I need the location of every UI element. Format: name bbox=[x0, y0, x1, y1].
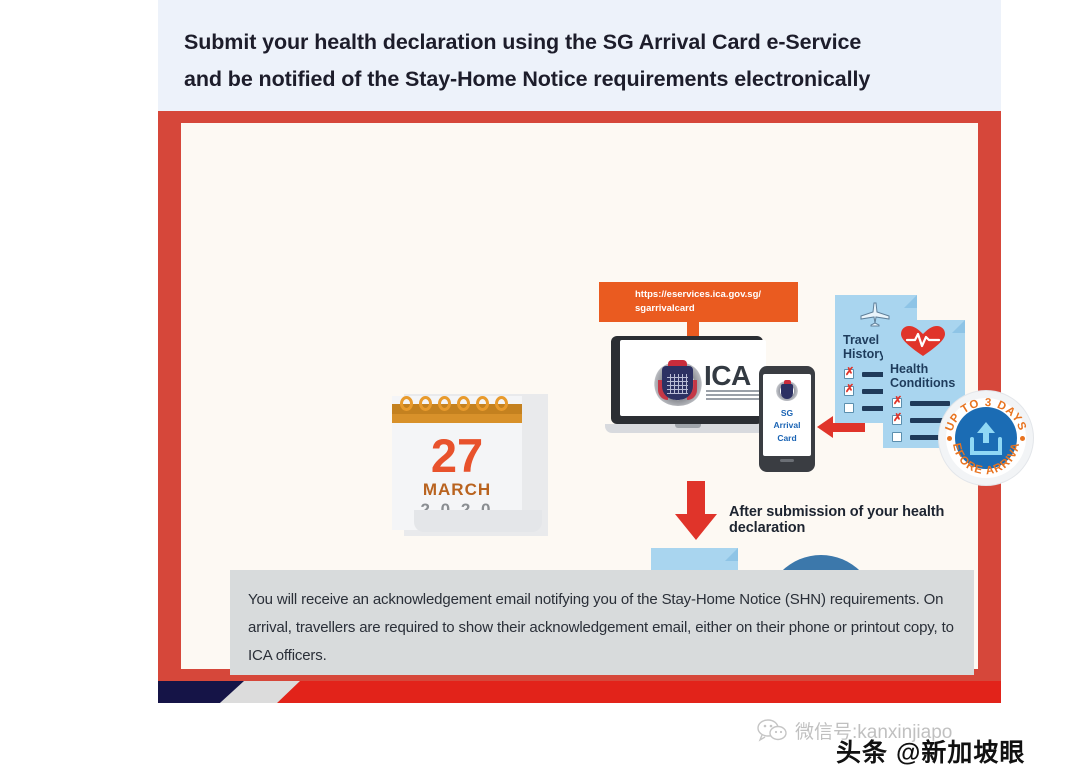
down-arrow-icon bbox=[675, 481, 717, 541]
phone-label-line-1: SG bbox=[763, 407, 811, 419]
phone-label-line-2: Arrival bbox=[763, 419, 811, 431]
header-line-2: and be notified of the Stay-Home Notice … bbox=[184, 61, 984, 98]
upload-icon bbox=[968, 419, 1004, 457]
ica-subtitle-lines bbox=[706, 390, 760, 403]
url-banner[interactable]: https://eservices.ica.gov.sg/ sgarrivalc… bbox=[599, 282, 798, 322]
calendar-graphic: 27 MARCH 2 0 2 0 bbox=[392, 388, 548, 536]
diagram-canvas: 27 MARCH 2 0 2 0 https://eservices.ica.g… bbox=[181, 123, 978, 669]
calendar-page-curl bbox=[414, 510, 542, 532]
page-fold-corner bbox=[952, 320, 965, 333]
phone-screen: SG Arrival Card bbox=[763, 374, 811, 456]
phone-graphic: SG Arrival Card bbox=[759, 366, 815, 472]
calendar-day: 27 bbox=[392, 432, 522, 479]
doc-title-line-2: History bbox=[843, 347, 886, 361]
bottom-color-band bbox=[158, 681, 1001, 703]
mid-caption: After submission of your health declarat… bbox=[729, 504, 978, 536]
laptop-screen: ICA bbox=[611, 336, 763, 424]
up-to-3-days-badge: UP TO 3 DAYS BEFORE ARRIVAL bbox=[939, 391, 1033, 485]
info-note-box: You will receive an acknowledgement emai… bbox=[230, 570, 974, 675]
url-line-2: sgarrivalcard bbox=[635, 302, 788, 316]
phone-app-label: SG Arrival Card bbox=[763, 407, 811, 444]
doc-title-line-2: Conditions bbox=[890, 376, 955, 390]
red-frame: 27 MARCH 2 0 2 0 https://eservices.ica.g… bbox=[158, 111, 1001, 681]
url-line-1: https://eservices.ica.gov.sg/ bbox=[635, 288, 788, 302]
phone-label-line-3: Card bbox=[763, 432, 811, 444]
header-band: Submit your health declaration using the… bbox=[158, 0, 1001, 111]
document-title: Travel History bbox=[843, 333, 886, 361]
page-fold-corner bbox=[725, 548, 738, 561]
ica-crest-icon bbox=[776, 379, 798, 403]
doc-title-line-1: Health bbox=[890, 362, 955, 376]
document-title: Health Conditions bbox=[890, 362, 955, 390]
infographic-card: Submit your health declaration using the… bbox=[158, 0, 1001, 712]
doc-title-line-1: Travel bbox=[843, 333, 886, 347]
ica-crest-icon bbox=[653, 358, 703, 408]
info-note-text: You will receive an acknowledgement emai… bbox=[248, 586, 956, 671]
header-line-1: Submit your health declaration using the… bbox=[184, 24, 984, 61]
laptop-webpage: ICA bbox=[620, 340, 766, 416]
laptop-hinge-notch bbox=[675, 424, 701, 428]
page-title: Submit your health declaration using the… bbox=[184, 24, 984, 98]
calendar-rings bbox=[398, 396, 522, 412]
laptop-graphic: ICA bbox=[605, 336, 770, 444]
wechat-icon bbox=[757, 718, 787, 742]
calendar-month: MARCH bbox=[392, 480, 522, 500]
toutiao-watermark: 头条 @新加坡眼 bbox=[836, 733, 1025, 769]
page-fold-corner bbox=[904, 295, 917, 308]
heartbeat-icon bbox=[899, 325, 947, 357]
ica-wordmark: ICA bbox=[704, 362, 751, 390]
phone-home-bar bbox=[780, 459, 794, 462]
